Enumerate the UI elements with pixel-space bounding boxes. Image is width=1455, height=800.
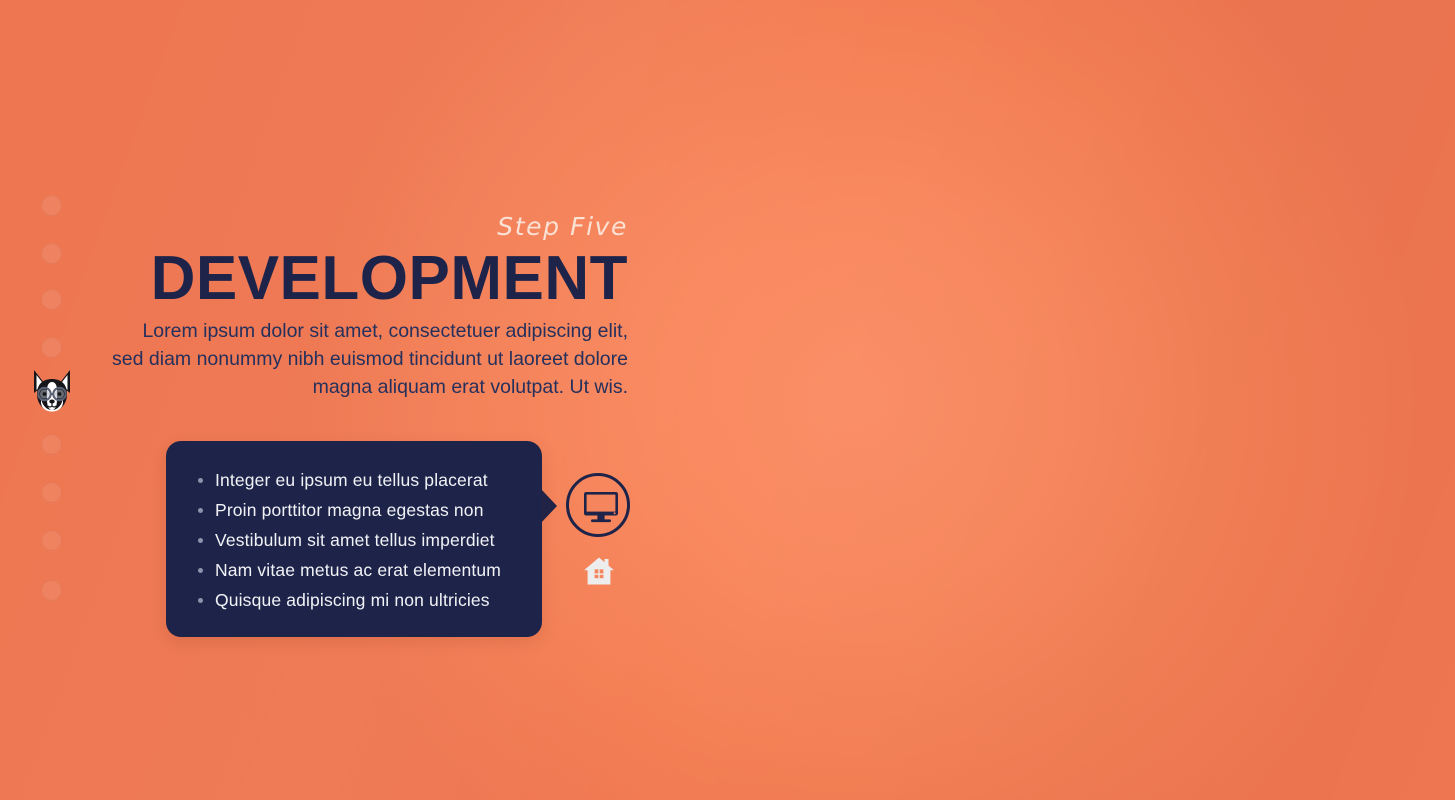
rail-dot-3[interactable] [41, 289, 62, 310]
page-title: DEVELOPMENT [100, 246, 628, 311]
bullet-label: Integer eu ipsum eu tellus placerat [215, 470, 488, 491]
slide-canvas: Step Five DEVELOPMENT Lorem ipsum dolor … [0, 0, 1455, 800]
bullet-dot-icon [198, 508, 203, 513]
bullet-item: Nam vitae metus ac erat elementum [198, 555, 501, 585]
bullet-label: Quisque adipiscing mi non ultricies [215, 590, 490, 611]
card-arrow-pointer [540, 488, 557, 524]
intro-paragraph: Lorem ipsum dolor sit amet, consectetuer… [108, 317, 628, 401]
bullet-list: Integer eu ipsum eu tellus placeratProin… [198, 465, 501, 615]
desktop-monitor-icon[interactable] [566, 473, 630, 537]
rail-dot-6[interactable] [41, 434, 62, 455]
bullet-dot-icon [198, 478, 203, 483]
rail-dot-4[interactable] [41, 337, 62, 358]
bullet-dot-icon [198, 538, 203, 543]
sidebar-rail [0, 0, 104, 800]
rail-dot-2[interactable] [41, 243, 62, 264]
bullet-card: Integer eu ipsum eu tellus placeratProin… [166, 441, 542, 637]
bullet-item: Quisque adipiscing mi non ultricies [198, 585, 501, 615]
house-icon [583, 556, 615, 586]
step-eyebrow: Step Five [200, 214, 628, 239]
bullet-label: Nam vitae metus ac erat elementum [215, 560, 501, 581]
bullet-dot-icon [198, 598, 203, 603]
bullet-label: Proin porttitor magna egestas non [215, 500, 484, 521]
rail-dot-8[interactable] [41, 530, 62, 551]
bullet-item: Integer eu ipsum eu tellus placerat [198, 465, 501, 495]
rail-dot-1[interactable] [41, 195, 62, 216]
bullet-dot-icon [198, 568, 203, 573]
bullet-item: Vestibulum sit amet tellus imperdiet [198, 525, 501, 555]
dog-with-glasses-logo [28, 366, 76, 418]
rail-dot-7[interactable] [41, 482, 62, 503]
bullet-label: Vestibulum sit amet tellus imperdiet [215, 530, 495, 551]
bullet-item: Proin porttitor magna egestas non [198, 495, 501, 525]
rail-dot-9[interactable] [41, 580, 62, 601]
